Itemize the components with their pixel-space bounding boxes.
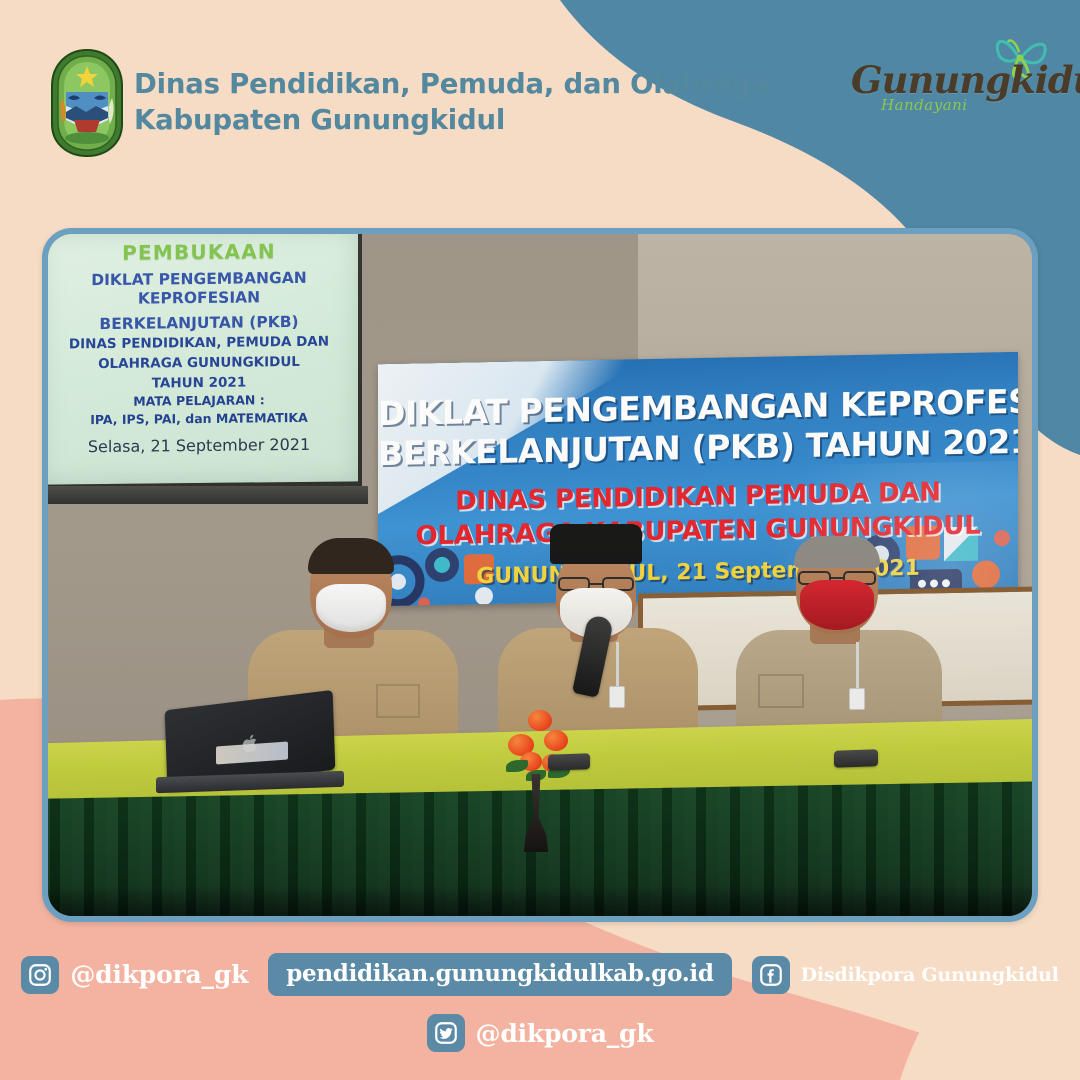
facebook-link[interactable]: Disdikpora Gunungkidul	[752, 956, 1059, 994]
person-left-pocket	[376, 684, 420, 718]
projector-screen: PEMBUKAAN DIKLAT PENGEMBANGAN KEPROFESIA…	[42, 228, 362, 489]
slide-heading: PEMBUKAAN	[44, 238, 354, 265]
slide-date: Selasa, 21 September 2021	[44, 434, 354, 456]
event-photo: PEMBUKAAN DIKLAT PENGEMBANGAN KEPROFESIA…	[48, 234, 1032, 916]
person-right-id-badge	[849, 688, 865, 710]
crest-logo	[44, 48, 130, 158]
instagram-link[interactable]: @dikpora_gk	[21, 956, 248, 994]
slide-line2: BERKELANJUTAN (PKB)	[44, 312, 354, 334]
page-title: Dinas Pendidikan, Pemuda, dan Olahraga K…	[134, 66, 770, 139]
person-right-hair	[794, 536, 880, 568]
dept-title-line2: Kabupaten Gunungkidul	[134, 102, 770, 138]
smartphone-icon	[834, 749, 878, 768]
projector-slide-text: PEMBUKAAN DIKLAT PENGEMBANGAN KEPROFESIA…	[42, 228, 358, 456]
gunungkidul-brand-logo: Gunungkidul Handayani	[843, 24, 1058, 129]
person-right-pocket	[758, 674, 804, 708]
social-footer: @dikpora_gk pendidikan.gunungkidulkab.go…	[0, 946, 1080, 1080]
slide-line6: MATA PELAJARAN :	[44, 392, 354, 411]
brand-tagline: Handayani	[881, 96, 968, 114]
slide-line7: IPA, IPS, PAI, dan MATEMATIKA	[44, 409, 354, 428]
gunungkidul-regency-crest-icon	[44, 48, 130, 158]
flower-bloom	[528, 710, 552, 731]
flower-leaf	[506, 760, 528, 772]
slide-line1: DIKLAT PENGEMBANGAN KEPROFESIAN	[44, 268, 354, 309]
social-row-primary: @dikpora_gk pendidikan.gunungkidulkab.go…	[0, 953, 1080, 996]
person-right-face-mask	[800, 580, 874, 630]
facebook-icon[interactable]	[752, 956, 790, 994]
twitter-handle: @dikpora_gk	[476, 1019, 654, 1048]
smartphone-icon	[548, 753, 590, 770]
banner-subtitle-line1: DINAS PENDIDIKAN PEMUDA DAN	[378, 476, 1018, 518]
twitter-link[interactable]: @dikpora_gk	[427, 1014, 654, 1052]
slide-line3: DINAS PENDIDIKAN, PEMUDA DAN	[44, 334, 354, 354]
person-left-face-mask	[316, 584, 386, 632]
website-url[interactable]: pendidikan.gunungkidulkab.go.id	[268, 953, 731, 996]
slide-line5: TAHUN 2021	[44, 373, 354, 393]
page-header: Dinas Pendidikan, Pemuda, dan Olahraga K…	[0, 0, 1080, 200]
social-row-secondary: @dikpora_gk	[0, 1014, 1080, 1052]
projector-screen-frame	[42, 486, 368, 504]
person-center-songkok	[550, 524, 642, 564]
person-center-lanyard	[616, 642, 619, 688]
instagram-icon[interactable]	[21, 956, 59, 994]
facebook-page-name: Disdikpora Gunungkidul	[801, 964, 1059, 986]
person-left-hair	[308, 538, 394, 574]
table-shadow	[42, 886, 1038, 922]
flower-bloom	[544, 730, 568, 751]
slide-line4: OLAHRAGA GUNUNGKIDUL	[44, 353, 354, 373]
twitter-icon[interactable]	[427, 1014, 465, 1052]
dept-title-line1: Dinas Pendidikan, Pemuda, dan Olahraga	[134, 68, 770, 100]
person-center-id-badge	[609, 686, 625, 708]
person-right-lanyard	[856, 642, 859, 690]
flower-vase-icon	[506, 704, 568, 784]
event-photo-card: PEMBUKAAN DIKLAT PENGEMBANGAN KEPROFESIA…	[42, 228, 1038, 922]
instagram-handle: @dikpora_gk	[70, 960, 248, 989]
